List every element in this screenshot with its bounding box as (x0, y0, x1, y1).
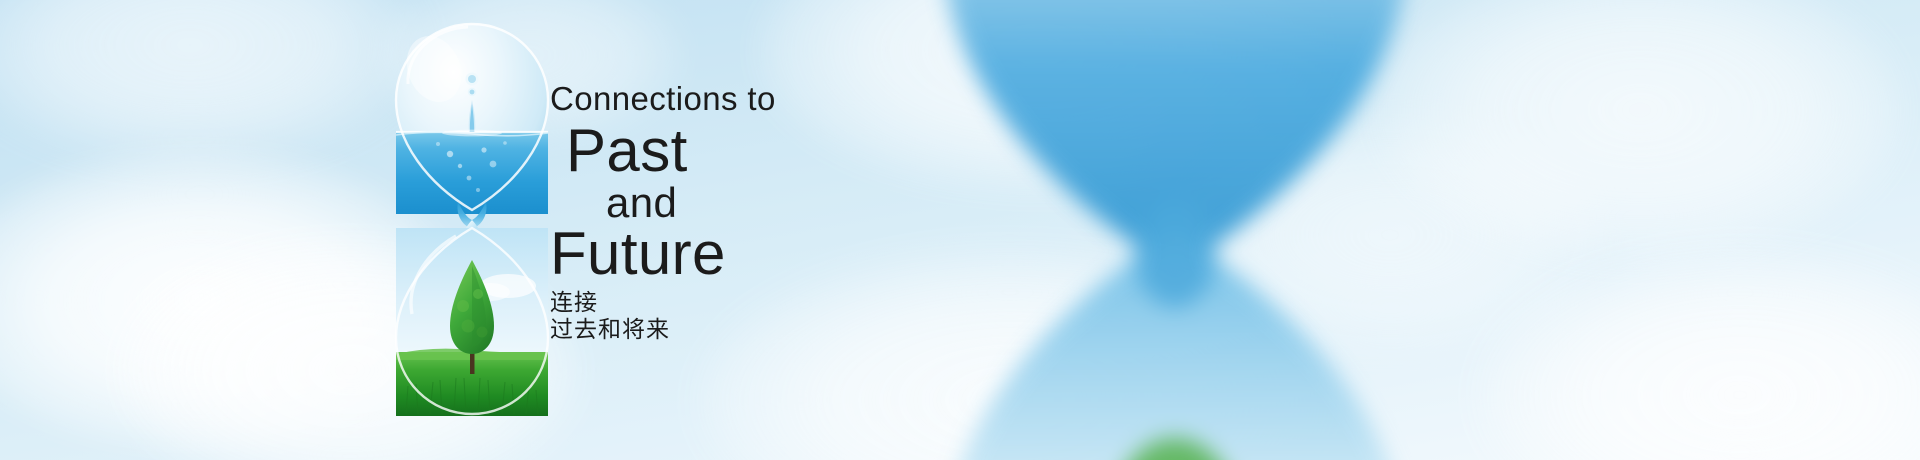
headline-line-past: Past (548, 120, 968, 182)
cloud-decoration (1180, 120, 1600, 350)
headline-block: Connections to Past and Future 连接 过去和将来 (548, 80, 968, 343)
cloud-decoration (1380, 0, 1900, 260)
hourglass-bottom-bulb (396, 228, 548, 416)
headline-line-connections: Connections to (548, 80, 968, 118)
blurred-hourglass-backdrop-icon (905, 0, 1445, 460)
bg-hourglass-top-bulb (943, 0, 1407, 271)
subtitle-line-cn-1: 连接 (548, 289, 968, 316)
subtitle-line-cn-2: 过去和将来 (548, 316, 968, 343)
banner-hero: Connections to Past and Future 连接 过去和将来 (0, 0, 1920, 460)
cloud-decoration (1480, 250, 1920, 460)
bg-hourglass-tree-group (943, 438, 1407, 460)
water-body (396, 132, 548, 214)
cloud-decoration (0, 0, 420, 160)
hourglass-top-bulb (396, 24, 548, 214)
headline-line-future: Future (548, 222, 968, 286)
water-hourglass-graphic (372, 14, 572, 429)
bg-hourglass-bottom-bulb (943, 232, 1407, 460)
